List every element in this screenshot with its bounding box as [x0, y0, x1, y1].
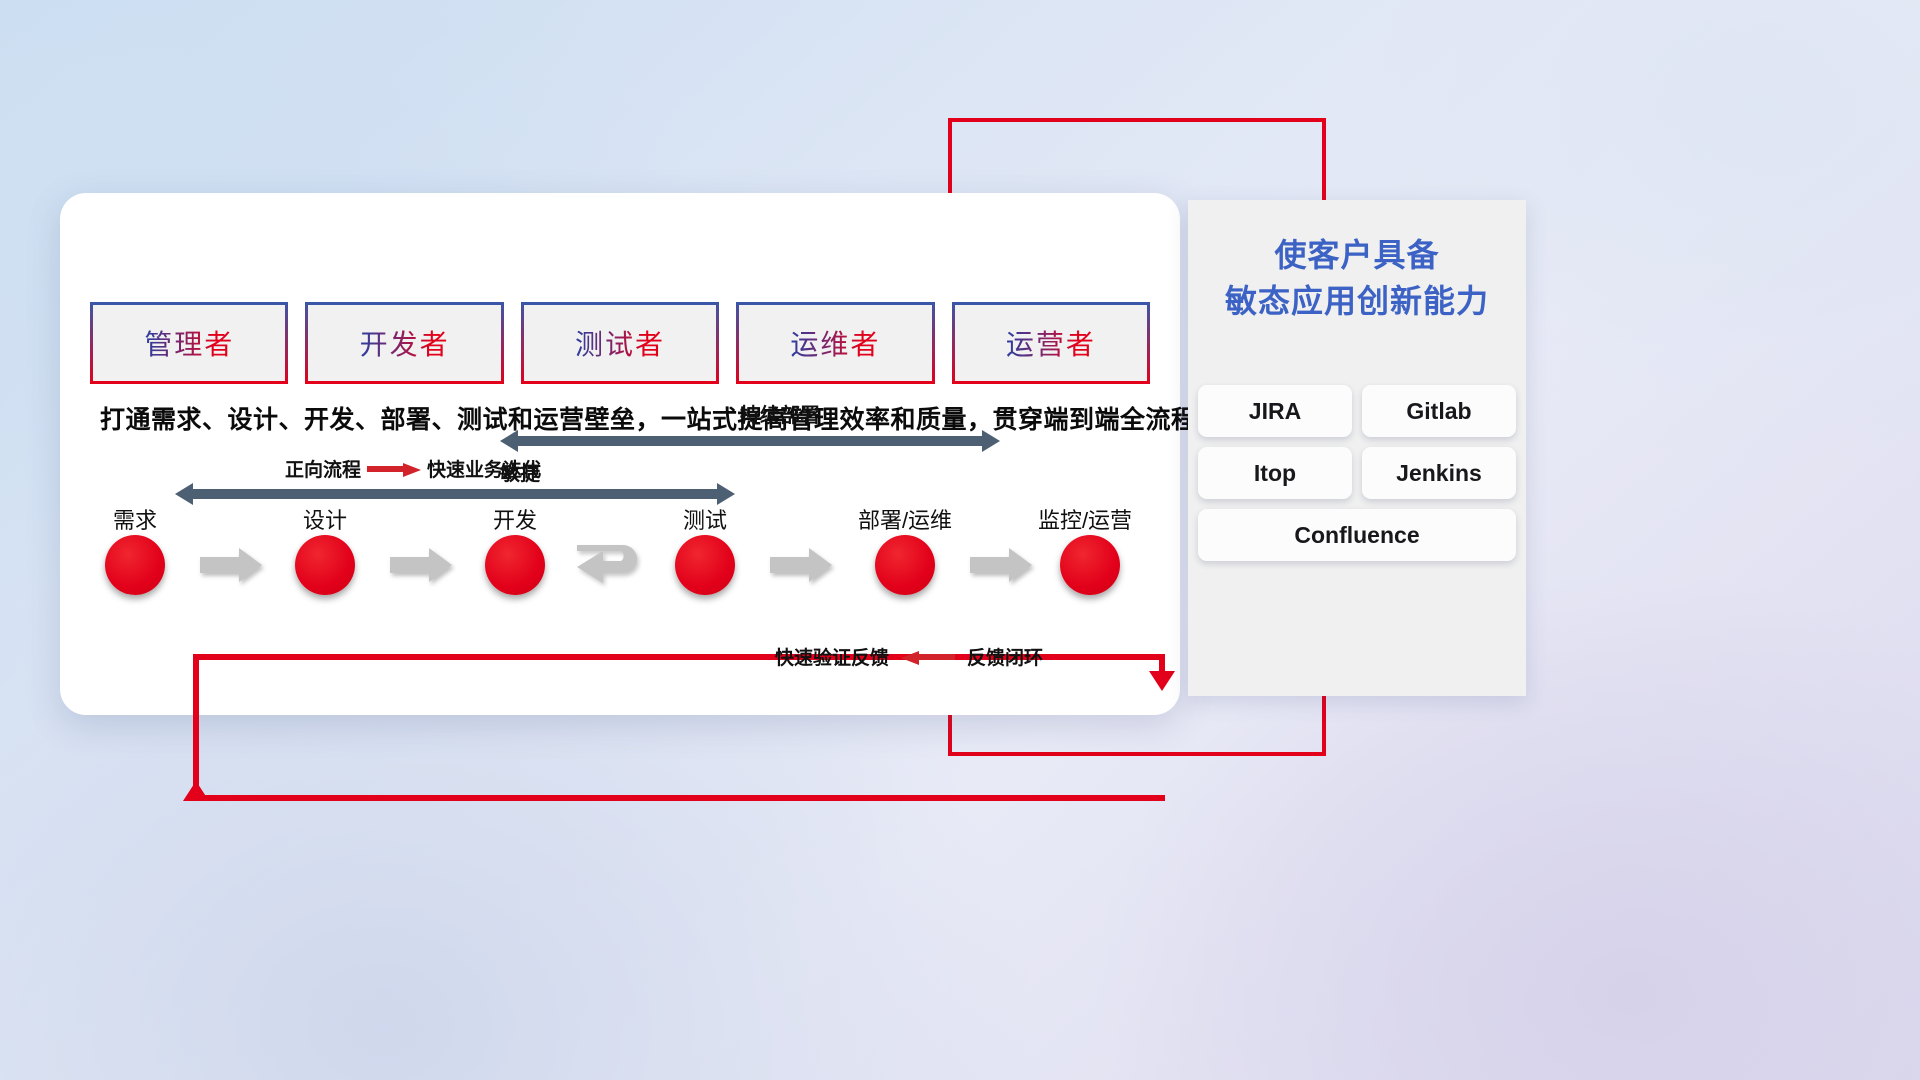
pipeline-node-deploy-ops[interactable] — [875, 535, 935, 595]
tool-item-itop[interactable]: Itop — [1198, 447, 1352, 499]
pipeline-node-development[interactable] — [485, 535, 545, 595]
tool-item-jira[interactable]: JIRA — [1198, 385, 1352, 437]
arrow-left-red-icon — [901, 651, 955, 662]
feedback-legend: 快速验证反馈 反馈闭环 — [775, 643, 1043, 670]
pipeline-node-label: 需求 — [113, 503, 157, 535]
pipeline-uturn-arrow-icon — [573, 531, 649, 593]
pipeline-node-requirement[interactable] — [105, 535, 165, 595]
red-frame-bottom — [948, 752, 1326, 756]
tool-item-gitlab[interactable]: Gitlab — [1362, 385, 1516, 437]
tool-list: JIRA Gitlab Itop Jenkins Confluence — [1198, 385, 1516, 561]
pipeline-node-label: 部署/运维 — [858, 503, 952, 535]
red-loop-bottom — [193, 795, 1165, 801]
pipeline-node-label: 设计 — [303, 503, 347, 535]
panel-title: 使客户具备 敏态应用创新能力 — [1188, 232, 1526, 325]
pipeline-node-monitor-operation[interactable] — [1060, 535, 1120, 595]
main-card: 管理者 开发者 测试者 运维者 运营者 — [60, 193, 1180, 715]
panel-title-line1: 使客户具备 — [1188, 232, 1526, 278]
pipeline-arrow-icon — [970, 548, 1032, 582]
pipeline-node-design[interactable] — [295, 535, 355, 595]
pipeline-node-test[interactable] — [675, 535, 735, 595]
red-frame-top — [948, 118, 1326, 122]
red-loop-up-arrow-icon — [183, 781, 209, 801]
tool-item-jenkins[interactable]: Jenkins — [1362, 447, 1516, 499]
pipeline: 需求 设计 开发 测试 部署/运维 — [60, 193, 1180, 715]
pipeline-node-label: 开发 — [493, 503, 537, 535]
pipeline-node-label: 测试 — [683, 503, 727, 535]
feedback-to-label: 反馈闭环 — [967, 643, 1043, 670]
panel-title-line2: 敏态应用创新能力 — [1188, 278, 1526, 324]
pipeline-arrow-icon — [770, 548, 832, 582]
tool-item-confluence[interactable]: Confluence — [1198, 509, 1516, 561]
pipeline-node-label: 监控/运营 — [1038, 503, 1132, 535]
tools-panel: 使客户具备 敏态应用创新能力 JIRA Gitlab Itop Jenkins … — [1188, 200, 1526, 696]
slide-canvas: 管理者 开发者 测试者 运维者 运营者 — [0, 0, 1920, 1080]
pipeline-arrow-icon — [390, 548, 452, 582]
pipeline-arrow-icon — [200, 548, 262, 582]
feedback-from-label: 快速验证反馈 — [775, 643, 889, 670]
